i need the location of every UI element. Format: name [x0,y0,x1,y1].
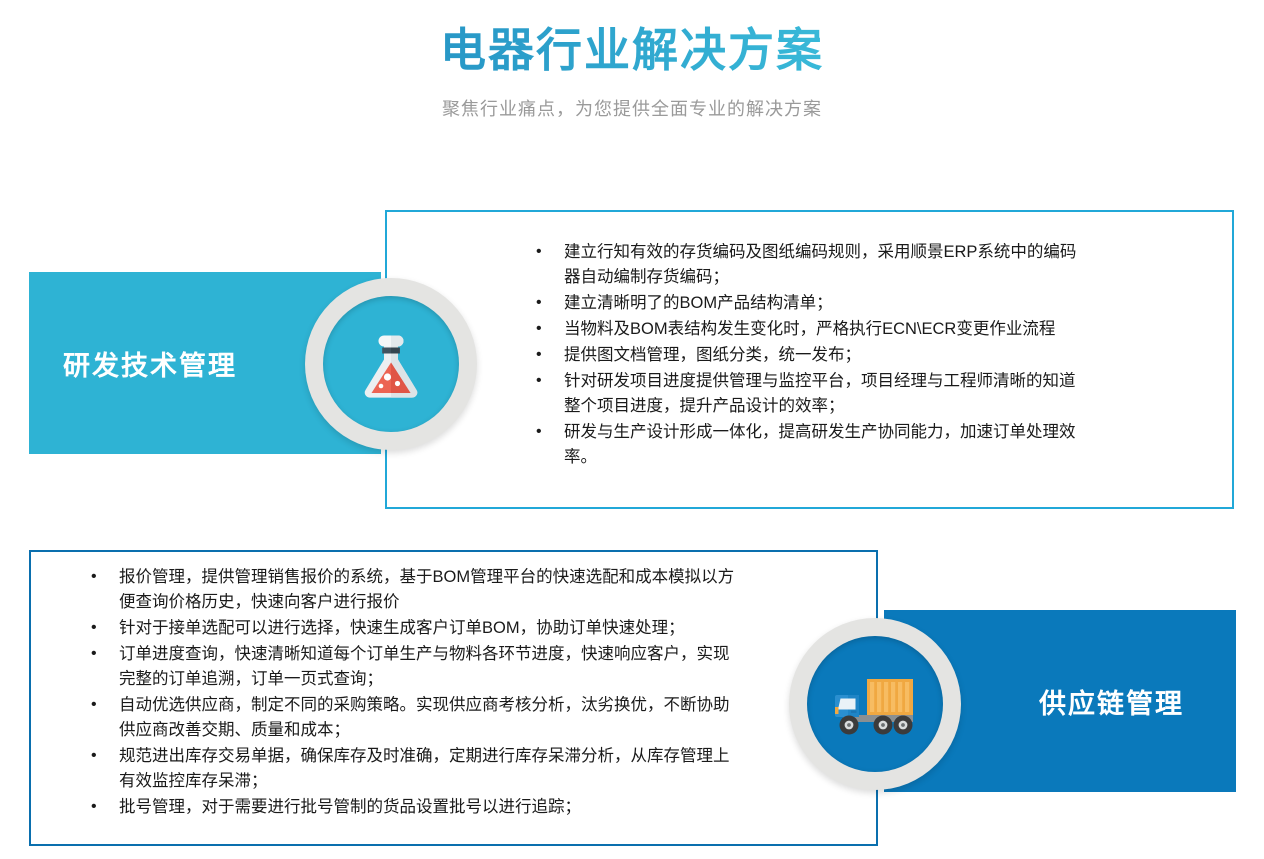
list-item: 建立清晰明了的BOM产品结构清单； [530,291,1090,316]
truck-icon [829,671,921,737]
list-item: 报价管理，提供管理销售报价的系统，基于BOM管理平台的快速选配和成本模拟以方便查… [85,565,737,615]
list-item: 研发与生产设计形成一体化，提高研发生产协同能力，加速订单处理效率。 [530,420,1090,470]
sc-icon-disc [807,636,943,772]
rd-icon-medallion [305,278,477,450]
flask-icon [354,325,428,403]
list-item: 批号管理，对于需要进行批号管制的货品设置批号以进行追踪； [85,795,737,820]
list-item: 针对于接单选配可以进行选择，快速生成客户订单BOM，协助订单快速处理； [85,616,737,641]
list-item: 提供图文档管理，图纸分类，统一发布； [530,343,1090,368]
rd-icon-disc [323,296,459,432]
page-header: 电器行业解决方案 聚焦行业痛点，为您提供全面专业的解决方案 [0,0,1264,121]
list-item: 自动优选供应商，制定不同的采购策略。实现供应商考核分析，汰劣换优，不断协助供应商… [85,693,737,743]
sc-banner-label: 供应链管理 [1039,682,1184,721]
page-title: 电器行业解决方案 [0,0,1264,77]
sc-icon-medallion [789,618,961,790]
list-item: 订单进度查询，快速清晰知道每个订单生产与物料各环节进度，快速响应客户，实现完整的… [85,642,737,692]
list-item: 建立行知有效的存货编码及图纸编码规则，采用顺景ERP系统中的编码器自动编制存货编… [530,240,1090,290]
list-item: 针对研发项目进度提供管理与监控平台，项目经理与工程师清晰的知道整个项目进度，提升… [530,369,1090,419]
list-item: 规范进出库存交易单据，确保库存及时准确，定期进行库存呆滞分析，从库存管理上有效监… [85,744,737,794]
rd-bullet-list: 建立行知有效的存货编码及图纸编码规则，采用顺景ERP系统中的编码器自动编制存货编… [530,240,1090,471]
rd-banner-label: 研发技术管理 [63,344,237,383]
sc-bullet-list: 报价管理，提供管理销售报价的系统，基于BOM管理平台的快速选配和成本模拟以方便查… [85,565,737,821]
list-item: 当物料及BOM表结构发生变化时，严格执行ECN\ECR变更作业流程 [530,317,1090,342]
page-subtitle: 聚焦行业痛点，为您提供全面专业的解决方案 [0,77,1264,121]
